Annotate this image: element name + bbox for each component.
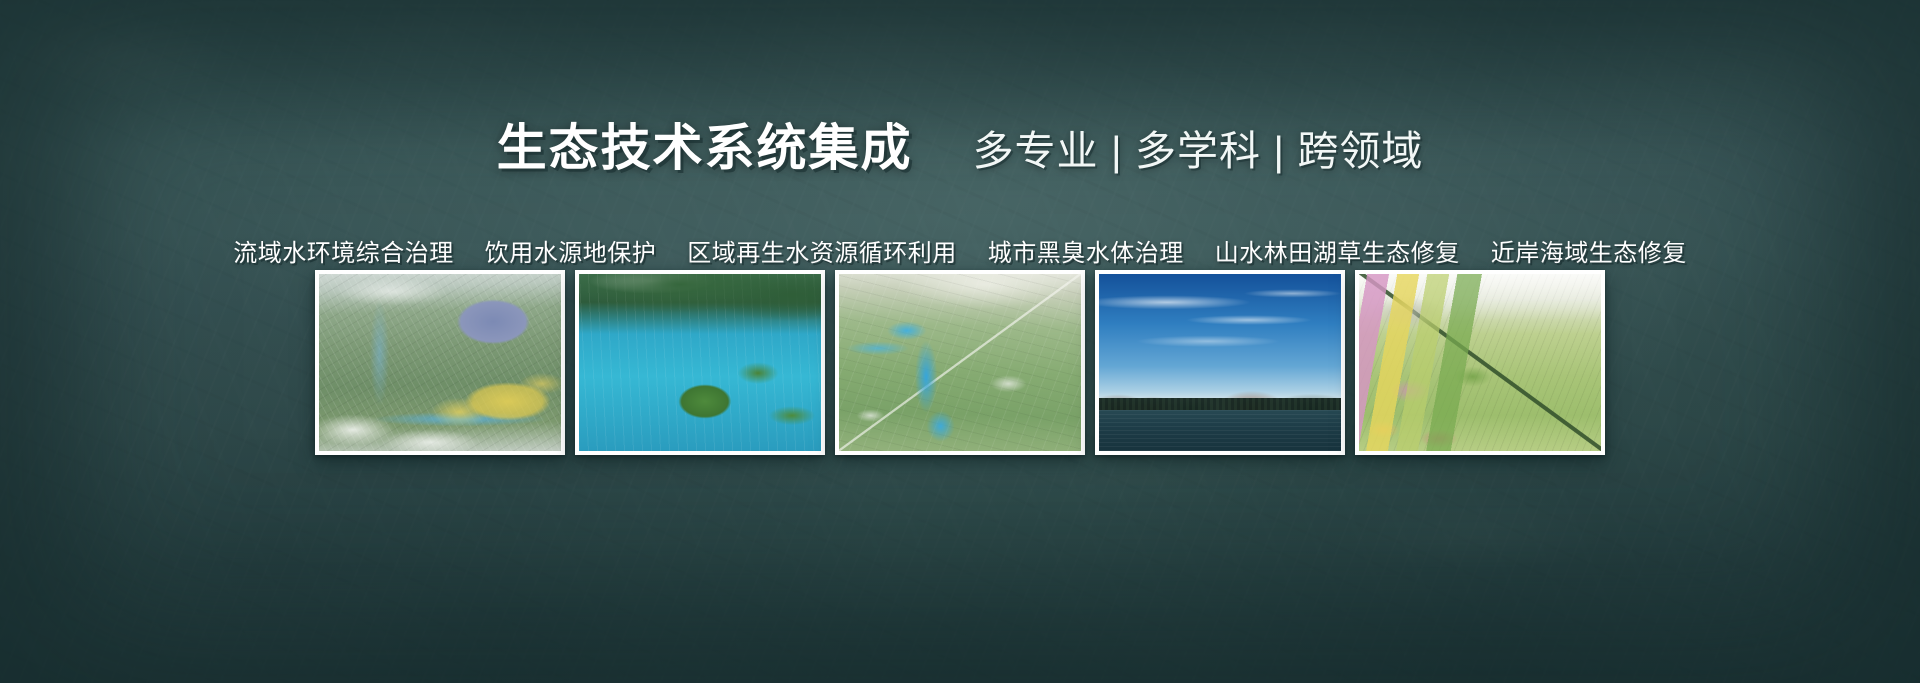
page-subtitle: 多专业 | 多学科 | 跨领域 [973,117,1424,177]
thumbnail-gallery [0,270,1920,455]
keyword-item-3: 区域再生水资源循环利用 [687,233,957,268]
headline-row: 生态技术系统集成 多专业 | 多学科 | 跨领域 [0,108,1920,180]
thumb-4-treeline-layer [1099,398,1341,410]
thumb-2-feature-layer [579,274,821,451]
thumb-5-feature-layer [1359,274,1601,451]
keyword-list: 流域水环境综合治理 饮用水源地保护 区域再生水资源循环利用 城市黑臭水体治理 山… [0,233,1920,268]
thumb-farmland [1359,274,1601,451]
hero-banner: 生态技术系统集成 多专业 | 多学科 | 跨领域 流域水环境综合治理 饮用水源地… [0,0,1920,683]
thumb-lake-islands [579,274,821,451]
thumb-river-valley [839,274,1081,451]
gallery-card-1[interactable] [315,270,565,455]
keyword-item-4: 城市黑臭水体治理 [988,233,1184,268]
keyword-item-1: 流域水环境综合治理 [233,233,454,268]
keyword-item-6: 近岸海域生态修复 [1491,233,1687,268]
thumb-1-feature-layer [319,274,561,451]
thumb-mountain-lake [1099,274,1341,451]
banner-content: 生态技术系统集成 多专业 | 多学科 | 跨领域 流域水环境综合治理 饮用水源地… [0,0,1920,683]
gallery-card-2[interactable] [575,270,825,455]
keyword-item-5: 山水林田湖草生态修复 [1215,233,1460,268]
thumb-3-feature-layer [839,274,1081,451]
gallery-card-4[interactable] [1095,270,1345,455]
thumb-river-basin [319,274,561,451]
gallery-card-5[interactable] [1355,270,1605,455]
thumb-4-water-reflection-layer [1099,410,1341,451]
page-title: 生态技术系统集成 [497,108,913,180]
gallery-card-3[interactable] [835,270,1085,455]
keyword-item-2: 饮用水源地保护 [485,233,657,268]
